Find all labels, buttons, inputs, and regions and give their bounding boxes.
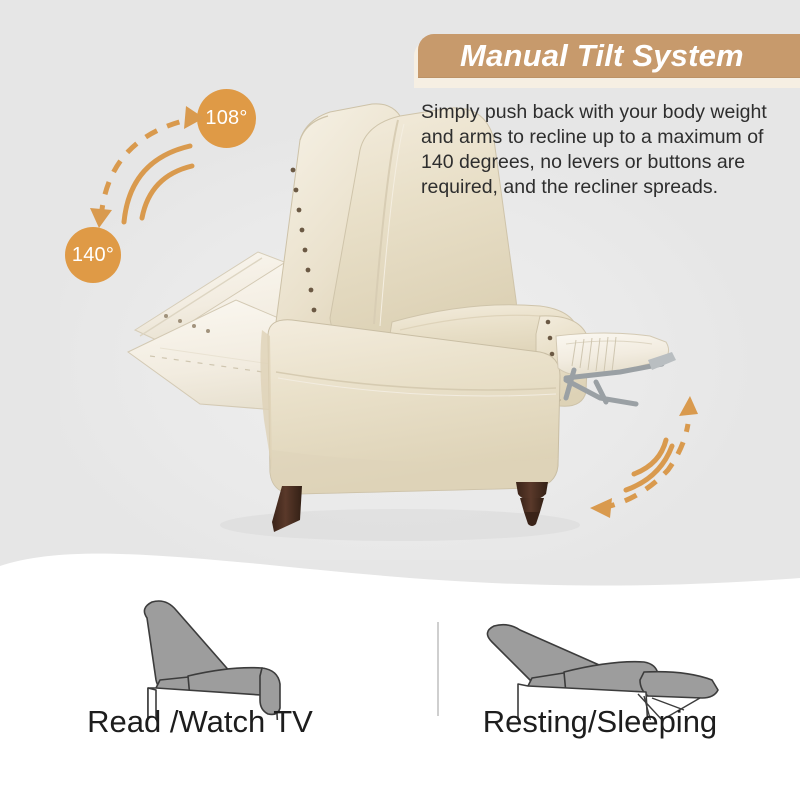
usage-modes-section: Read /Watch TV [0, 600, 800, 800]
chair-upright-icon [0, 580, 400, 720]
mode-label-resting: Resting/Sleeping [400, 704, 800, 740]
angle-badge-140: 140° [65, 227, 121, 283]
angle-badge-108: 108° [197, 89, 256, 148]
recliner-photo [0, 0, 800, 600]
hero-section: 108° 140° [0, 0, 800, 600]
page-title: Manual Tilt System [460, 34, 744, 78]
description-text: Simply push back with your body weight a… [421, 100, 789, 200]
mode-resting-sleeping: Resting/Sleeping [400, 600, 800, 800]
mode-divider [437, 622, 439, 716]
banner-fill: Manual Tilt System [418, 34, 800, 78]
mode-read-watch-tv: Read /Watch TV [0, 600, 400, 800]
chair-reclined-icon [400, 580, 800, 720]
mode-label-read: Read /Watch TV [0, 704, 400, 740]
title-banner: Manual Tilt System [414, 34, 800, 88]
infographic-page: 108° 140° [0, 0, 800, 800]
